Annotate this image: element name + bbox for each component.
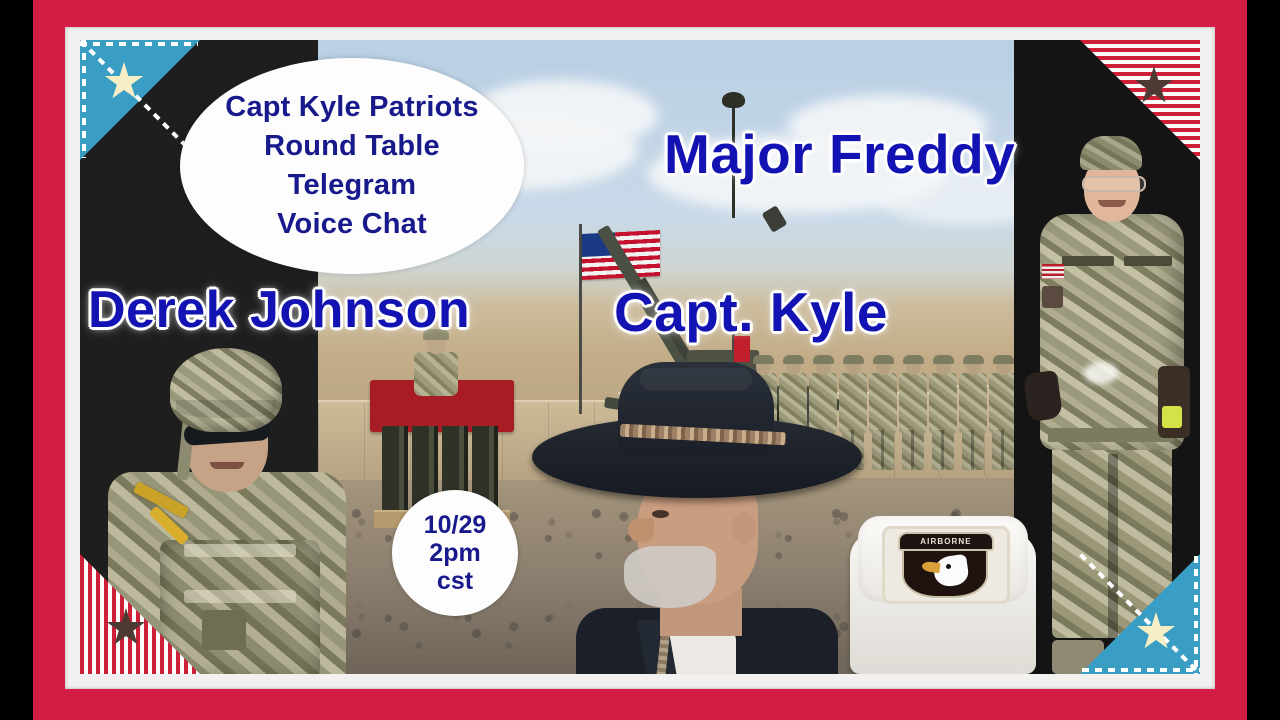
date-time-badge: 10/29 2pm cst (392, 490, 518, 616)
bubble-line-2: Round Table (264, 127, 440, 166)
corner-decoration-bottom-right (1080, 554, 1200, 674)
name-label-derek-johnson: Derek Johnson (88, 280, 470, 340)
eye (652, 510, 669, 518)
poster-canvas: AIRBORNE (80, 40, 1200, 674)
soldier-at-table (410, 332, 462, 392)
soldier (868, 358, 898, 470)
soldier (958, 358, 988, 470)
unit-patch-icon (1042, 286, 1063, 308)
timezone-line: cst (437, 567, 473, 595)
airborne-tab: AIRBORNE (898, 532, 994, 551)
holster (1158, 366, 1190, 438)
name-label-capt-kyle: Capt. Kyle (614, 280, 888, 344)
striped-triangle (80, 554, 200, 674)
corner-decoration-bottom-left (80, 554, 200, 674)
dashed-border (1194, 556, 1198, 674)
mouth (1098, 200, 1126, 207)
soldier (928, 358, 958, 470)
nose (628, 518, 654, 542)
dashed-border (1082, 668, 1200, 672)
airborne-cake: AIRBORNE (844, 510, 1044, 674)
uniform-belt (1048, 428, 1174, 442)
striped-triangle (1080, 40, 1200, 160)
name-label-major-freddy: Major Freddy (664, 122, 1015, 186)
time-line: 2pm (429, 539, 480, 567)
screaming-eagle-patch-icon: AIRBORNE (894, 532, 992, 594)
dashed-border (80, 42, 198, 46)
corner-decoration-top-right (1080, 40, 1200, 160)
corner-decoration-top-left (80, 40, 200, 160)
figure-capt-kyle (532, 362, 862, 674)
soldier-body (414, 352, 458, 396)
poster-stage: AIRBORNE (0, 0, 1280, 720)
antenna-head-icon (722, 92, 745, 108)
bubble-line-4: Voice Chat (277, 205, 427, 244)
bubble-line-3: Telegram (288, 166, 416, 205)
name-tape (1062, 256, 1114, 266)
vest-strap (184, 544, 296, 557)
ear (732, 512, 756, 544)
eagle-eye (946, 564, 951, 569)
airborne-tab-label: AIRBORNE (920, 537, 971, 546)
dashed-border (82, 40, 86, 158)
light-flare (1084, 362, 1118, 384)
vest-strap (184, 590, 296, 603)
announcement-bubble: Capt Kyle Patriots Round Table Telegram … (180, 58, 524, 274)
flag-patch-icon (1042, 264, 1064, 279)
eyeglasses-icon (1082, 176, 1146, 192)
mouth (210, 462, 244, 469)
black-glove (1023, 370, 1063, 422)
gray-beard (624, 546, 716, 608)
us-army-tape (1124, 256, 1172, 266)
bubble-line-1: Capt Kyle Patriots (225, 88, 478, 127)
soldier (898, 358, 928, 470)
date-line: 10/29 (424, 511, 487, 539)
vest-pouch (202, 610, 246, 650)
combat-helmet (170, 348, 282, 432)
muzzle-brake (762, 205, 788, 233)
